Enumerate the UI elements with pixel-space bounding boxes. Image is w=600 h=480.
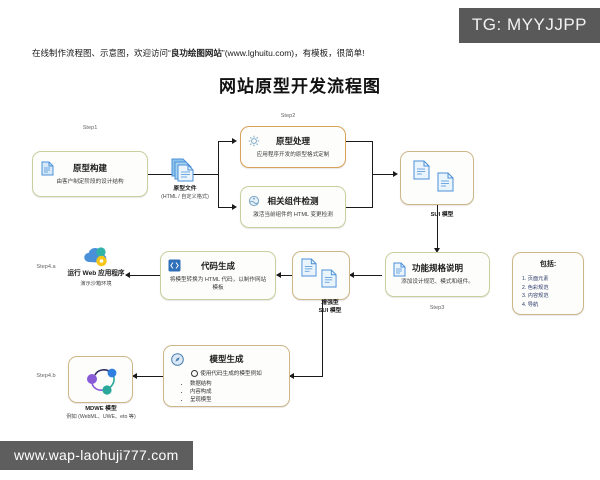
arrow-to-sui-model <box>393 171 398 177</box>
two-documents-icon-enhanced-second <box>321 269 337 288</box>
label-enhanced-sui-line2: SUI 模型 <box>300 308 360 316</box>
promo-line: 在线制作流程图、示意图，欢迎访问“良功绘图网站”(www.lghuitu.com… <box>32 47 365 59</box>
two-documents-icon-enhanced <box>301 258 317 277</box>
includes-item: 3. 内容规范 <box>522 292 583 301</box>
node-code-gen[interactable]: 代码生成 将模型转换为 HTML 代码，以制作网站模板 <box>160 251 276 300</box>
step1-tag: Step1 <box>70 125 110 131</box>
edge-modelgen-to-mdwe <box>133 376 163 377</box>
label-prototype-file-title: 原型文件 <box>150 186 220 194</box>
label-mdwe-model-sub: 例如 (WebML、UWE、eto 等) <box>58 414 144 421</box>
edge-merge-to-sui <box>372 174 394 175</box>
step4b-tag: Step4.b <box>26 373 66 379</box>
includes-list: 1. 页面元素 2. 色彩规范 3. 内容规范 4. 导航 <box>522 275 583 309</box>
edge-funcspec-to-enhanced <box>350 275 382 276</box>
model-gen-bullet-list: 数据结构 内容构成 呈现模型 <box>190 380 289 404</box>
label-enhanced-sui: 增强型 SUI 模型 <box>300 300 360 316</box>
node-sui-model[interactable] <box>400 151 474 205</box>
arrow-to-component-detect <box>232 204 237 210</box>
stacked-documents-icon <box>170 157 196 183</box>
document-blue-icon-funcspec <box>393 262 406 277</box>
page-title: 网站原型开发流程图 <box>0 72 600 97</box>
includes-item: 4. 导航 <box>522 301 583 310</box>
includes-item: 1. 页面元素 <box>522 275 583 284</box>
two-documents-icon-second <box>437 172 454 192</box>
node-prototype-build-sub: 由客户制定阶段的设计结构 <box>33 178 147 186</box>
radar-icon <box>248 195 260 207</box>
node-func-spec-sub: 添加设计规范、模式和组件。 <box>386 278 489 286</box>
label-enhanced-sui-line1: 增强型 <box>300 300 360 308</box>
footer-url-watermark: www.wap-laohuji777.com <box>0 441 193 470</box>
node-includes[interactable]: 包括: 1. 页面元素 2. 色彩规范 3. 内容规范 4. 导航 <box>512 252 584 315</box>
node-model-gen-circle-line: 使用代码生成的模型例如 <box>164 369 289 377</box>
edge-detect-to-merge <box>345 207 373 208</box>
node-model-gen[interactable]: 模型生成 使用代码生成的模型例如 数据结构 内容构成 呈现模型 <box>163 345 290 407</box>
arrow-to-code-gen <box>276 272 281 278</box>
node-mdwe-model[interactable] <box>68 356 133 403</box>
network-nodes-icon <box>83 365 120 396</box>
node-component-detect[interactable]: 相关组件检测 激活当前组件的 HTML 变更检测 <box>240 186 346 228</box>
label-mdwe-model-title: MDWE 模型 <box>58 406 144 414</box>
promo-brand: 良功绘图网站 <box>171 48 222 58</box>
model-gen-bullet-item: 呈现模型 <box>190 396 289 404</box>
label-prototype-file-sub: (HTML / 自定义格式) <box>150 194 220 201</box>
cloud-icon <box>81 245 111 269</box>
compass-icon <box>171 353 184 366</box>
node-func-spec[interactable]: 功能规格说明 添加设计规范、模式和组件。 <box>385 252 490 297</box>
label-run-web-app-sub: 演示沙箱环境 <box>62 281 130 288</box>
node-code-gen-sub: 将模型转换为 HTML 代码，以制作网站模板 <box>161 276 275 292</box>
includes-item: 2. 色彩规范 <box>522 284 583 293</box>
node-model-gen-circle-text: 使用代码生成的模型例如 <box>200 371 262 377</box>
edge-fork-to-detect <box>218 207 233 208</box>
node-component-detect-sub: 激活当前组件的 HTML 变更检测 <box>241 211 345 219</box>
circle-bullet-icon <box>191 370 198 377</box>
arrow-to-prototype-process <box>232 138 237 144</box>
node-enhanced-sui-model[interactable] <box>292 251 350 300</box>
step4a-tag: Step4.a <box>26 264 66 270</box>
step2-tag: Step2 <box>268 113 308 119</box>
node-prototype-build[interactable]: 原型构建 由客户制定阶段的设计结构 <box>32 151 148 197</box>
label-mdwe-model: MDWE 模型 例如 (WebML、UWE、eto 等) <box>58 406 144 421</box>
edge-process-to-merge <box>345 141 373 142</box>
node-prototype-process-sub: 应用程序开发的原型格式定制 <box>241 151 345 159</box>
code-icon <box>168 259 181 272</box>
edge-down-to-modelgen <box>290 376 323 377</box>
gear-icon <box>248 135 260 147</box>
label-sui-model: SUI 模型 <box>412 212 472 220</box>
promo-prefix: 在线制作流程图、示意图，欢迎访问“ <box>32 48 171 58</box>
node-prototype-process[interactable]: 原型处理 应用程序开发的原型格式定制 <box>240 126 346 168</box>
edge-fork-to-process <box>218 141 233 142</box>
label-run-web-app-title: 运行 Web 应用程序 <box>62 270 130 279</box>
promo-suffix: ”(www.lghuitu.com)，有模板，很简单! <box>222 48 365 58</box>
edge-codegen-to-runapp <box>126 275 160 276</box>
two-documents-icon <box>413 160 430 180</box>
includes-title: 包括: <box>513 259 583 269</box>
model-gen-bullet-item: 数据结构 <box>190 380 289 388</box>
document-blue-icon <box>41 161 54 176</box>
step3-tag: Step3 <box>417 305 457 311</box>
model-gen-bullet-item: 内容构成 <box>190 388 289 396</box>
label-run-web-app: 运行 Web 应用程序 演示沙箱环境 <box>62 270 130 288</box>
tg-watermark-badge: TG: MYYJJPP <box>459 8 600 43</box>
label-prototype-file: 原型文件 (HTML / 自定义格式) <box>150 186 220 201</box>
